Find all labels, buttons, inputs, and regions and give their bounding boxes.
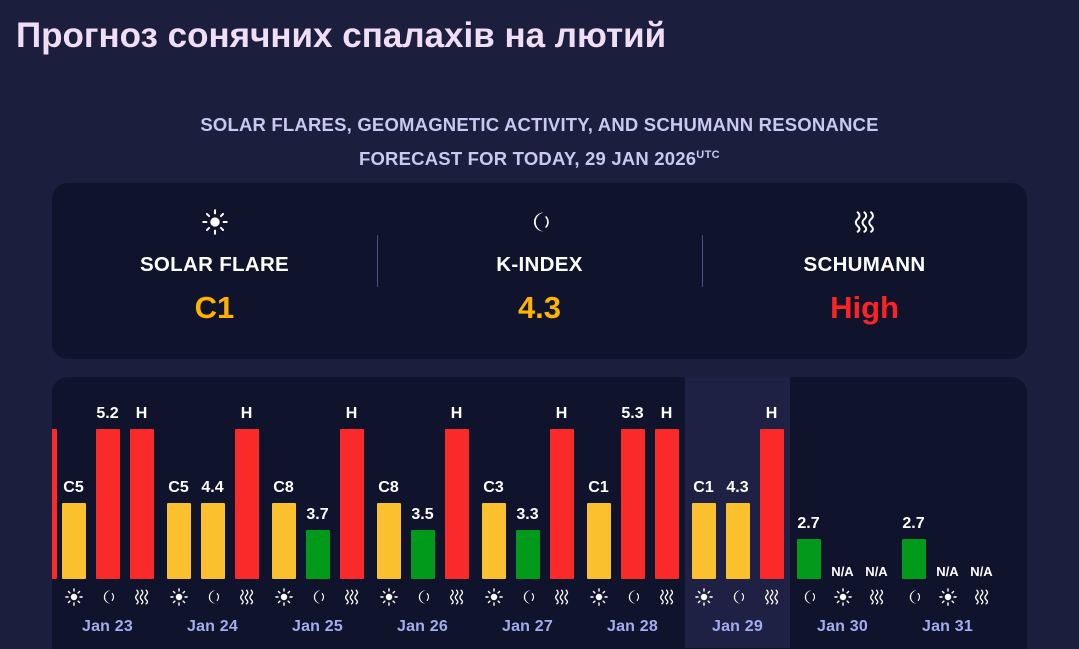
bar-value-label: 3.7: [306, 506, 328, 524]
bar-slot-schumann: H: [335, 424, 369, 579]
day-label: Jan 27: [475, 618, 580, 636]
bar-value-label: C1: [588, 479, 608, 497]
summary-cell-k-index: K-INDEX4.3: [377, 183, 702, 359]
bar-value-label: 2.7: [797, 515, 819, 533]
schumann-icon: [125, 588, 159, 606]
page-title: Прогноз сонячних спалахів на лютий: [16, 16, 666, 56]
day-group-jan-24[interactable]: C54.4HJan 24: [160, 377, 265, 648]
bar-solar-flare[interactable]: [62, 503, 86, 579]
summary-value: 4.3: [518, 292, 561, 323]
sun-icon: [372, 588, 406, 606]
sun-icon: [162, 588, 196, 606]
day-label: Jan 28: [580, 618, 685, 636]
day-group-jan-26[interactable]: C83.5HJan 26: [370, 377, 475, 648]
bar-slot-k-index: 4.3: [721, 424, 755, 579]
bar-k-index[interactable]: [726, 503, 750, 579]
bars-area: C83.7H: [265, 424, 370, 579]
sun-icon: [582, 588, 616, 606]
icons-row: [160, 588, 265, 606]
sun-icon: [687, 588, 721, 606]
bars-area: C33.3H: [475, 424, 580, 579]
icons-row: [55, 588, 160, 606]
sun-icon: [267, 588, 301, 606]
bar-slot-schumann: H: [755, 424, 789, 579]
bar-solar-flare[interactable]: [587, 503, 611, 579]
magnetic-icon: [897, 588, 931, 606]
schumann-icon: [335, 588, 369, 606]
bar-slot-k-index: 5.2: [91, 424, 125, 579]
day-group-jan-28[interactable]: C15.3HJan 28: [580, 377, 685, 648]
bar-schumann[interactable]: [655, 429, 679, 579]
sun-icon: [931, 588, 965, 606]
bar-value-label: H: [556, 405, 568, 423]
bar-value-label: H: [241, 405, 253, 423]
sun-icon: [477, 588, 511, 606]
summary-label: SOLAR FLARE: [140, 253, 289, 277]
day-label: Jan 31: [895, 618, 1000, 636]
day-group-jan-31[interactable]: 2.7N/AN/AJan 31: [895, 377, 1000, 648]
day-label: Jan 26: [370, 618, 475, 636]
day-group-jan-25[interactable]: C83.7HJan 25: [265, 377, 370, 648]
bar-slot-solar-flare: C5: [162, 424, 196, 579]
day-label: Jan 29: [685, 618, 790, 636]
bar-value-label: N/A: [831, 564, 853, 579]
bar-value-label: 4.3: [726, 479, 748, 497]
bar-slot-schumann: H: [125, 424, 159, 579]
forecast-chart-card: HC55.2HJan 23C54.4HJan 24C83.7HJan 25C83…: [52, 377, 1027, 649]
bar-value-label: H: [766, 405, 778, 423]
bar-k-index[interactable]: [201, 503, 225, 579]
bar-solar-flare[interactable]: [272, 503, 296, 579]
bar-value-label: N/A: [936, 564, 958, 579]
sun-icon: [826, 588, 860, 606]
bar-slot-k-index: 5.3: [616, 424, 650, 579]
forecast-subtitle: SOLAR FLARES, GEOMAGNETIC ACTIVITY, AND …: [0, 110, 1079, 174]
bar-k-index[interactable]: [902, 539, 926, 579]
bars-area: C55.2H: [55, 424, 160, 579]
bar-slot-solar-flare: C1: [582, 424, 616, 579]
schumann-icon: [650, 588, 684, 606]
magnetic-icon: [91, 588, 125, 606]
bar-value-label: 2.7: [902, 515, 924, 533]
day-label: Jan 24: [160, 618, 265, 636]
sun-icon: [57, 588, 91, 606]
bar-slot-schumann: N/A: [965, 424, 999, 579]
magnetic-icon: [792, 588, 826, 606]
bar-schumann[interactable]: [760, 429, 784, 579]
bar-slot-solar-flare: C8: [267, 424, 301, 579]
bar-value-label: C8: [273, 479, 293, 497]
bar-slot-solar-flare: C3: [477, 424, 511, 579]
bar-value-label: C5: [168, 479, 188, 497]
bar-solar-flare[interactable]: [692, 503, 716, 579]
day-group-jan-27[interactable]: C33.3HJan 27: [475, 377, 580, 648]
bar-value-label: 3.5: [411, 506, 433, 524]
icons-row: [370, 588, 475, 606]
summary-label: SCHUMANN: [804, 253, 926, 277]
day-group-jan-29[interactable]: C14.3HJan 29: [685, 377, 790, 648]
bar-slot-k-index: 3.3: [511, 424, 545, 579]
day-label: Jan 25: [265, 618, 370, 636]
bar-schumann[interactable]: [550, 429, 574, 579]
summary-value: C1: [195, 292, 235, 323]
magnetic-icon: [721, 588, 755, 606]
bar-slot-k-index: 4.4: [196, 424, 230, 579]
bar-value-label: H: [346, 405, 358, 423]
magnetic-icon: [301, 588, 335, 606]
summary-grid: SOLAR FLAREC1K-INDEX4.3SCHUMANNHigh: [52, 183, 1027, 359]
icons-row: [580, 588, 685, 606]
sun-icon: [202, 205, 228, 239]
bar-k-index[interactable]: [621, 429, 645, 579]
utc-suffix: UTC: [696, 149, 720, 161]
bar-slot-schumann: H: [650, 424, 684, 579]
schumann-icon: [860, 588, 894, 606]
page-root: Прогноз сонячних спалахів на лютий SOLAR…: [0, 0, 1079, 649]
summary-cell-solar-flare: SOLAR FLAREC1: [52, 183, 377, 359]
bar-value-label: N/A: [865, 564, 887, 579]
bar-solar-flare[interactable]: [482, 503, 506, 579]
bar-value-label: N/A: [970, 564, 992, 579]
bars-area: C14.3H: [685, 424, 790, 579]
bar-slot-schumann: H: [230, 424, 264, 579]
bar-value-label: C5: [63, 479, 83, 497]
bar-value-label: H: [661, 405, 673, 423]
bar-k-index[interactable]: [306, 530, 330, 579]
bar-value-label: 4.4: [201, 479, 223, 497]
bar-slot-k-index: 3.5: [406, 424, 440, 579]
bar-solar-flare[interactable]: [167, 503, 191, 579]
bar-k-index[interactable]: [411, 530, 435, 579]
bar-value-label: 5.3: [621, 405, 643, 423]
bar-slot-solar-flare: N/A: [931, 424, 965, 579]
summary-card: SOLAR FLAREC1K-INDEX4.3SCHUMANNHigh: [52, 183, 1027, 359]
day-label: Jan 23: [55, 618, 160, 636]
day-group-jan-23[interactable]: C55.2HJan 23: [55, 377, 160, 648]
bar-value-label: C1: [693, 479, 713, 497]
magnetic-icon: [196, 588, 230, 606]
icons-row: [475, 588, 580, 606]
bar-value-label: C8: [378, 479, 398, 497]
bar-slot-solar-flare: C5: [57, 424, 91, 579]
schumann-icon: [440, 588, 474, 606]
bar-value-label: C3: [483, 479, 503, 497]
summary-label: K-INDEX: [496, 253, 582, 277]
bar-schumann[interactable]: [445, 429, 469, 579]
bar-k-index[interactable]: [96, 429, 120, 579]
bar-slot-solar-flare: C1: [687, 424, 721, 579]
bars-area: C15.3H: [580, 424, 685, 579]
bar-value-label: H: [451, 405, 463, 423]
bar-schumann[interactable]: [235, 429, 259, 579]
icons-row: [265, 588, 370, 606]
bars-area: 2.7N/AN/A: [790, 424, 895, 579]
day-group-jan-30[interactable]: 2.7N/AN/AJan 30: [790, 377, 895, 648]
magnetic-icon: [406, 588, 440, 606]
icons-row: [685, 588, 790, 606]
bar-solar-flare[interactable]: [377, 503, 401, 579]
bars-area: C54.4H: [160, 424, 265, 579]
schumann-icon: [965, 588, 999, 606]
schumann-icon: [545, 588, 579, 606]
bar-value-label: 5.2: [96, 405, 118, 423]
subtitle-line-2: FORECAST FOR TODAY, 29 JAN 2026: [359, 148, 696, 169]
bar-schumann[interactable]: [130, 429, 154, 579]
magnetic-icon: [527, 205, 553, 239]
icons-row: [895, 588, 1000, 606]
magnetic-icon: [616, 588, 650, 606]
schumann-icon: [755, 588, 789, 606]
schumann-icon: [852, 205, 878, 239]
forecast-chart: HC55.2HJan 23C54.4HJan 24C83.7HJan 25C83…: [52, 377, 1027, 649]
bar-slot-solar-flare: C8: [372, 424, 406, 579]
bar-slot-k-index: 2.7: [897, 424, 931, 579]
schumann-icon: [230, 588, 264, 606]
subtitle-line-1: SOLAR FLARES, GEOMAGNETIC ACTIVITY, AND …: [200, 114, 878, 135]
bar-k-index[interactable]: [516, 530, 540, 579]
bar-value-label: 3.3: [516, 506, 538, 524]
bar-schumann[interactable]: [340, 429, 364, 579]
day-label: Jan 30: [790, 618, 895, 636]
bar-k-index[interactable]: [797, 539, 821, 579]
bar-slot-schumann: N/A: [860, 424, 894, 579]
bar-slot-solar-flare: N/A: [826, 424, 860, 579]
bar-slot-k-index: 2.7: [792, 424, 826, 579]
bars-area: C83.5H: [370, 424, 475, 579]
bar-value-label: H: [136, 405, 148, 423]
summary-value: High: [830, 292, 899, 323]
bar-slot-k-index: 3.7: [301, 424, 335, 579]
bar-slot-schumann: H: [440, 424, 474, 579]
bars-area: 2.7N/AN/A: [895, 424, 1000, 579]
bar-slot-schumann: H: [545, 424, 579, 579]
icons-row: [790, 588, 895, 606]
magnetic-icon: [511, 588, 545, 606]
summary-cell-schumann: SCHUMANNHigh: [702, 183, 1027, 359]
